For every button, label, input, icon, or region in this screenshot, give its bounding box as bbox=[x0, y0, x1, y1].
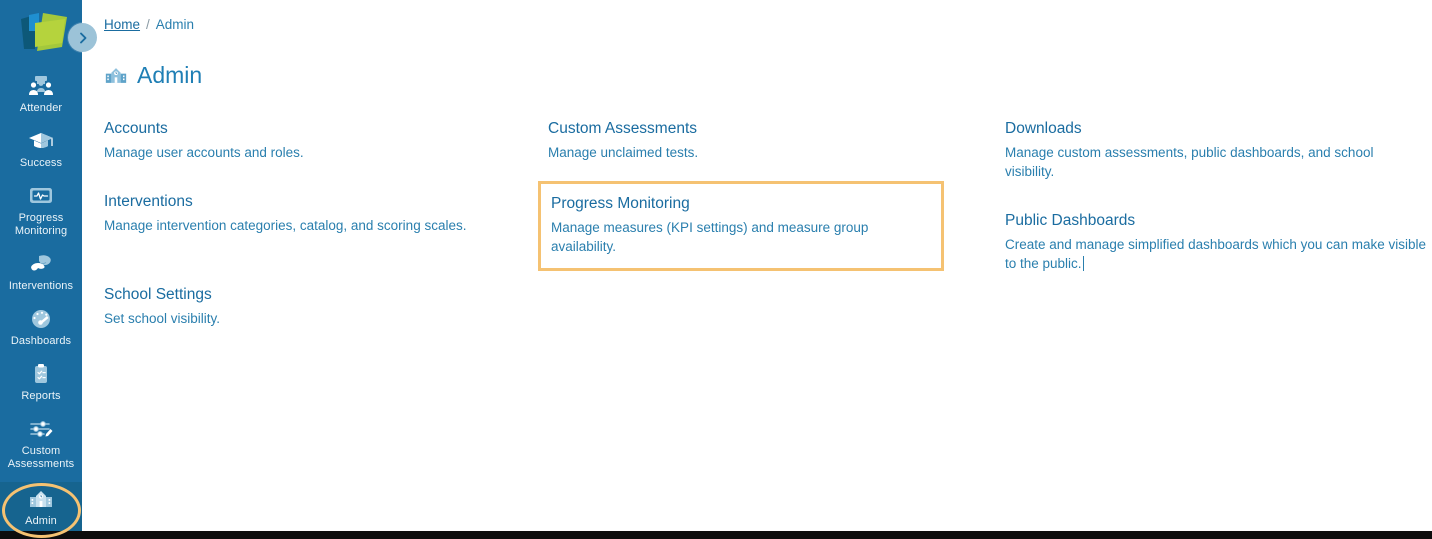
sidebar-item-label: Dashboards bbox=[11, 335, 71, 348]
clipboard-checklist-icon bbox=[28, 361, 54, 387]
page-title-row: Admin bbox=[104, 62, 202, 88]
admin-link-grid: Accounts Manage user accounts and roles.… bbox=[82, 115, 1432, 355]
admin-card-school-settings[interactable]: School Settings Set school visibility. bbox=[104, 281, 554, 332]
card-desc-public-dashboards: Create and manage simplified dashboards … bbox=[1005, 235, 1426, 273]
text-caret bbox=[1083, 256, 1084, 271]
chevron-right-icon bbox=[76, 31, 90, 45]
admin-card-public-dashboards[interactable]: Public Dashboards Create and manage simp… bbox=[1005, 207, 1430, 277]
breadcrumb-home-link[interactable]: Home bbox=[104, 17, 140, 32]
sidebar-item-label: Success bbox=[20, 157, 62, 170]
school-building-icon bbox=[28, 486, 54, 512]
admin-card-custom-assessments[interactable]: Custom Assessments Manage unclaimed test… bbox=[548, 115, 988, 166]
card-title-school-settings[interactable]: School Settings bbox=[104, 285, 550, 305]
sidebar-nav: Attender Success bbox=[0, 66, 82, 477]
card-title-downloads[interactable]: Downloads bbox=[1005, 119, 1423, 139]
main-content: Home / Admin Admin bbox=[82, 0, 1432, 531]
card-desc-accounts: Manage user accounts and roles. bbox=[104, 143, 550, 162]
admin-card-progress-monitoring[interactable]: Progress Monitoring Manage measures (KPI… bbox=[538, 181, 944, 271]
card-desc-school-settings: Set school visibility. bbox=[104, 309, 550, 328]
sidebar-item-reports[interactable]: Reports bbox=[0, 354, 82, 409]
card-title-public-dashboards[interactable]: Public Dashboards bbox=[1005, 211, 1426, 231]
speedometer-gauge-icon bbox=[28, 306, 54, 332]
admin-card-interventions[interactable]: Interventions Manage intervention catego… bbox=[104, 188, 554, 239]
app-logo-mark bbox=[13, 11, 69, 55]
sidebar-item-label: Interventions bbox=[9, 280, 73, 293]
card-desc-public-dashboards-text: Create and manage simplified dashboards … bbox=[1005, 237, 1426, 271]
page-title: Admin bbox=[137, 62, 202, 88]
card-desc-downloads: Manage custom assessments, public dashbo… bbox=[1005, 143, 1423, 181]
card-desc-custom-assessments: Manage unclaimed tests. bbox=[548, 143, 984, 162]
sidebar-item-success[interactable]: Success bbox=[0, 121, 82, 176]
helping-hands-icon bbox=[28, 251, 54, 277]
breadcrumb: Home / Admin bbox=[104, 17, 194, 32]
sliders-pencil-icon bbox=[28, 416, 54, 442]
breadcrumb-separator: / bbox=[146, 17, 150, 32]
sidebar-item-label: Reports bbox=[21, 390, 60, 403]
card-title-accounts[interactable]: Accounts bbox=[104, 119, 550, 139]
bottom-bar bbox=[0, 531, 1432, 539]
sidebar-item-label: Attender bbox=[20, 102, 62, 115]
admin-column-2: Custom Assessments Manage unclaimed test… bbox=[538, 115, 988, 271]
admin-column-1: Accounts Manage user accounts and roles.… bbox=[104, 115, 554, 332]
admin-column-3: Downloads Manage custom assessments, pub… bbox=[987, 115, 1427, 277]
sidebar: Attender Success bbox=[0, 0, 82, 531]
sidebar-item-custom-assessments[interactable]: Custom Assessments bbox=[0, 409, 82, 477]
sidebar-item-interventions[interactable]: Interventions bbox=[0, 244, 82, 299]
attender-people-icon bbox=[28, 73, 54, 99]
sidebar-item-label: Custom Assessments bbox=[2, 445, 80, 471]
graduation-cap-icon bbox=[28, 128, 54, 154]
expand-sidebar-button[interactable] bbox=[68, 23, 97, 52]
card-title-interventions[interactable]: Interventions bbox=[104, 192, 550, 212]
sidebar-item-label: Progress Monitoring bbox=[2, 212, 80, 238]
sidebar-item-admin[interactable]: Admin bbox=[0, 482, 82, 531]
school-building-icon bbox=[104, 63, 128, 87]
admin-card-downloads[interactable]: Downloads Manage custom assessments, pub… bbox=[1005, 115, 1427, 185]
sidebar-item-label: Admin bbox=[25, 515, 57, 528]
card-title-progress-monitoring[interactable]: Progress Monitoring bbox=[551, 194, 929, 214]
card-desc-interventions: Manage intervention categories, catalog,… bbox=[104, 216, 550, 235]
card-desc-progress-monitoring: Manage measures (KPI settings) and measu… bbox=[551, 218, 929, 256]
breadcrumb-current: Admin bbox=[156, 17, 194, 32]
card-title-custom-assessments[interactable]: Custom Assessments bbox=[548, 119, 984, 139]
admin-card-accounts[interactable]: Accounts Manage user accounts and roles. bbox=[104, 115, 554, 166]
sidebar-item-dashboards[interactable]: Dashboards bbox=[0, 299, 82, 354]
sidebar-item-attender[interactable]: Attender bbox=[0, 66, 82, 121]
sidebar-item-progress-monitoring[interactable]: Progress Monitoring bbox=[0, 176, 82, 244]
admin-page: Attender Success bbox=[0, 0, 1432, 539]
monitor-pulse-icon bbox=[28, 183, 54, 209]
